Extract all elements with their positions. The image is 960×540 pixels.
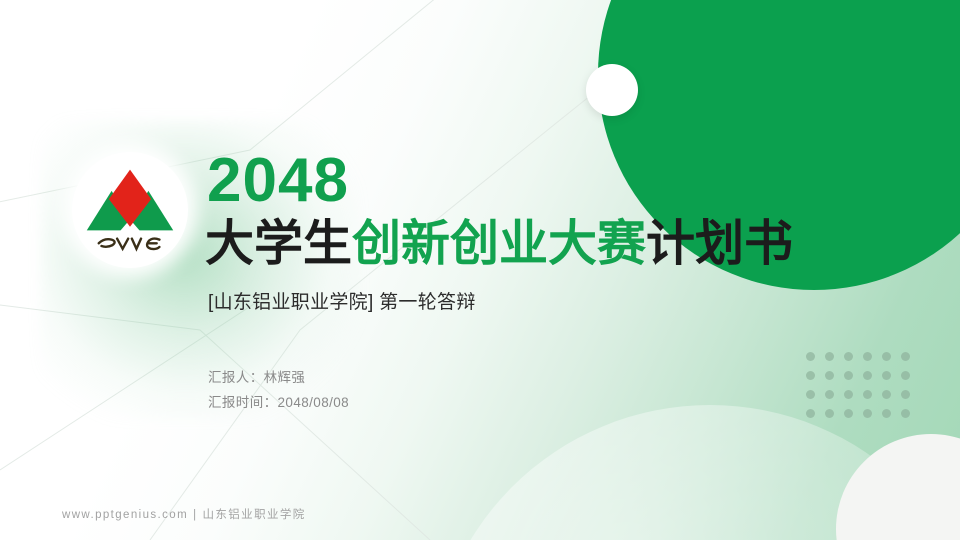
footer-website: www.pptgenius.com bbox=[62, 509, 188, 521]
dot bbox=[844, 352, 853, 361]
footer: www.pptgenius.com|山东铝业职业学院 bbox=[62, 506, 306, 522]
dot bbox=[901, 409, 910, 418]
dot bbox=[844, 409, 853, 418]
presenter-meta: 汇报人：林辉强 汇报时间：2048/08/08 bbox=[208, 366, 845, 416]
subtitle: [山东铝业职业学院] 第一轮答辩 bbox=[208, 287, 845, 314]
dot bbox=[863, 371, 872, 380]
dot bbox=[882, 371, 891, 380]
main-title-part-1: 大学生 bbox=[205, 215, 352, 272]
dot bbox=[863, 409, 872, 418]
dot bbox=[901, 352, 910, 361]
main-title: 大学生创新创业大赛计划书 bbox=[205, 218, 845, 271]
date-line: 汇报时间：2048/08/08 bbox=[208, 391, 845, 416]
dot bbox=[882, 409, 891, 418]
dot bbox=[901, 371, 910, 380]
footer-organization: 山东铝业职业学院 bbox=[202, 509, 305, 521]
presentation-slide: 2048 大学生创新创业大赛计划书 [山东铝业职业学院] 第一轮答辩 汇报人：林… bbox=[0, 0, 960, 540]
dot bbox=[844, 390, 853, 399]
footer-separator: | bbox=[193, 509, 197, 521]
dot bbox=[844, 371, 853, 380]
dot bbox=[863, 352, 872, 361]
dot bbox=[863, 390, 872, 399]
main-title-part-2: 创新创业大赛 bbox=[352, 215, 646, 272]
dot bbox=[901, 390, 910, 399]
main-title-part-3: 计划书 bbox=[646, 215, 793, 272]
presenter-line: 汇报人：林辉强 bbox=[208, 366, 845, 391]
school-logo-icon bbox=[84, 166, 176, 258]
decor-white-small-circle bbox=[586, 64, 638, 116]
dot bbox=[882, 352, 891, 361]
dot bbox=[882, 390, 891, 399]
year-heading: 2048 bbox=[207, 150, 845, 212]
slide-text-block: 2048 大学生创新创业大赛计划书 [山东铝业职业学院] 第一轮答辩 汇报人：林… bbox=[205, 150, 845, 416]
